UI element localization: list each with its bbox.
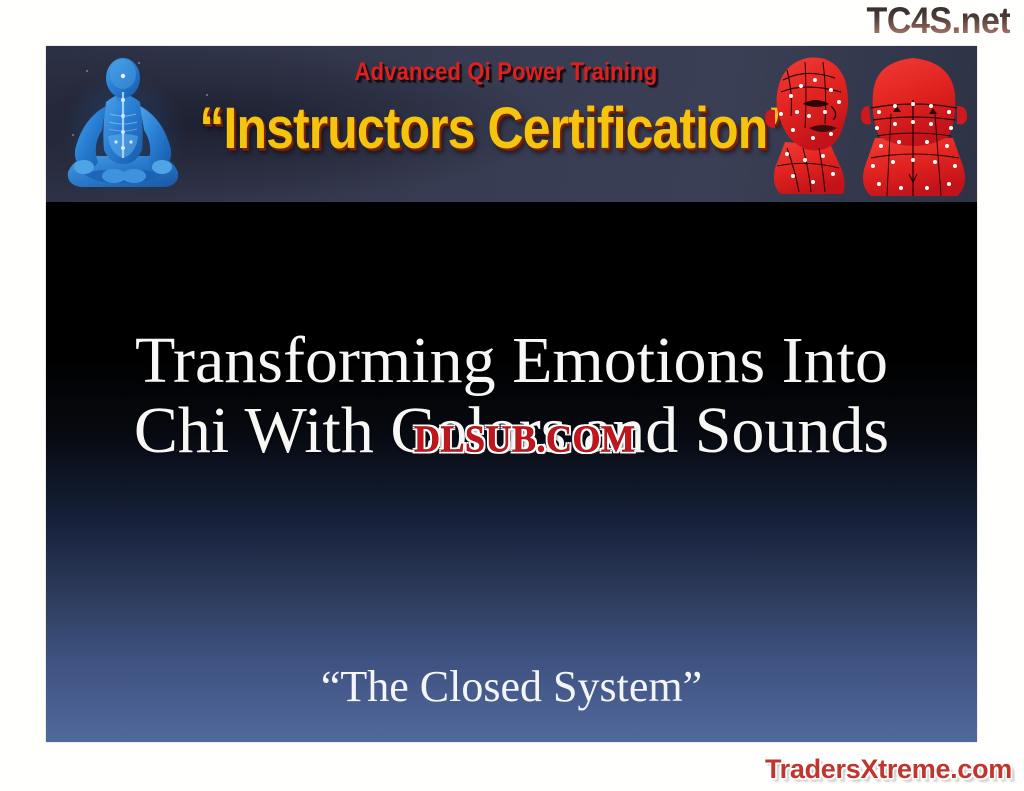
slide-body: Transforming Emotions Into Chi With Colo…	[46, 202, 977, 742]
banner-title: “Instructors Certification”	[199, 98, 732, 160]
banner-subtitle: Advanced Qi Power Training	[298, 58, 713, 87]
blue-meditating-figure-icon	[58, 54, 188, 202]
tc4s-watermark: TC4S.net	[866, 2, 1010, 40]
red-anatomical-heads-icon	[747, 50, 975, 202]
dlsub-watermark: DLSUB.COM	[414, 419, 636, 459]
presentation-slide: Advanced Qi Power Training “Instructors …	[46, 46, 977, 742]
slide-header-banner: Advanced Qi Power Training “Instructors …	[46, 46, 977, 202]
tradersxtreme-watermark: TradersXtreme.com	[765, 754, 1012, 785]
slide-subtitle: “The Closed System”	[96, 662, 927, 712]
